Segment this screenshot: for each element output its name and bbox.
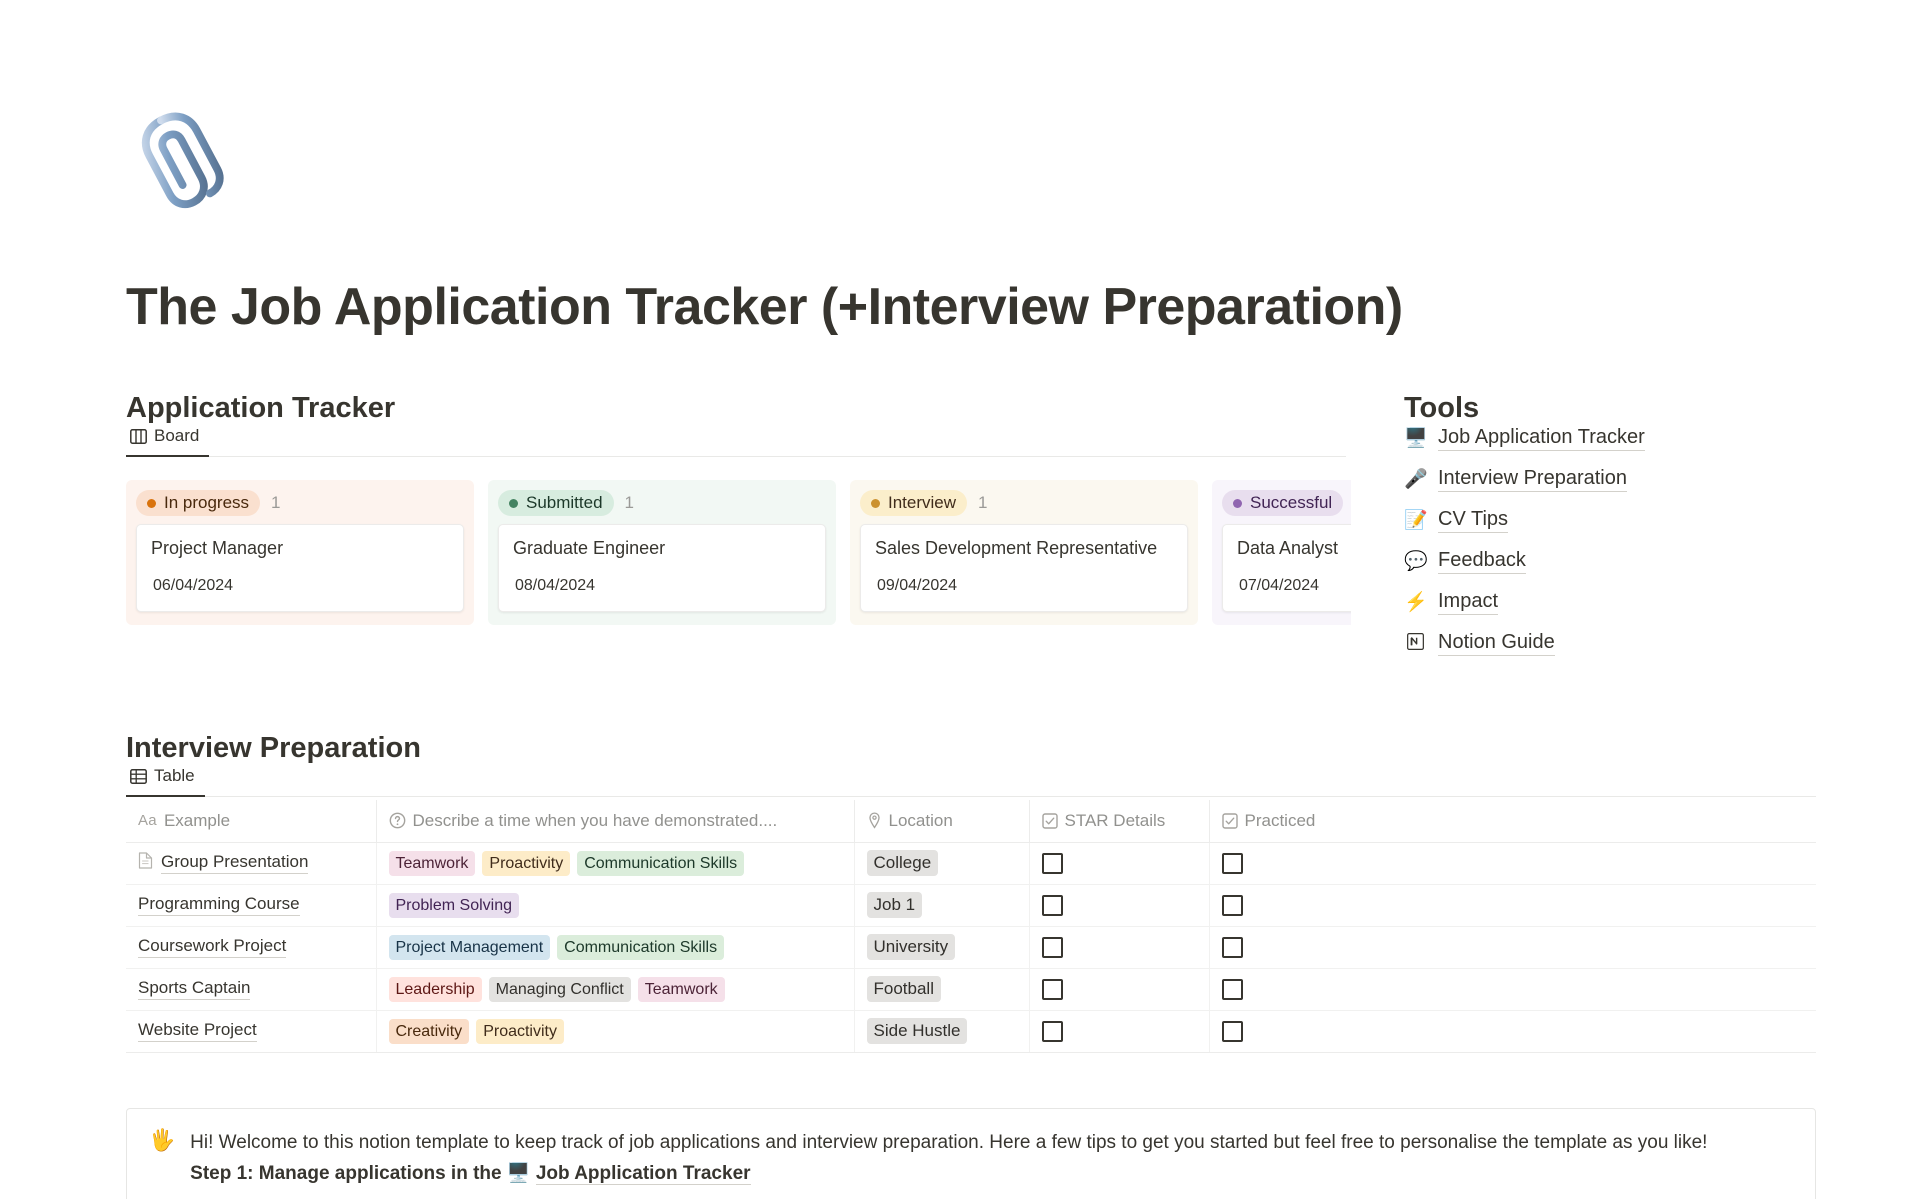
- location-tag: Football: [867, 976, 941, 1002]
- notion-page: The Job Application Tracker (+Interview …: [0, 0, 1920, 1199]
- skill-tag: Project Management: [389, 935, 551, 960]
- cell-example[interactable]: Coursework Project: [126, 926, 376, 968]
- board-column-interview[interactable]: Interview 1 Sales Development Representa…: [850, 480, 1198, 625]
- column-header-label: Location: [889, 811, 953, 831]
- column-header: In progress 1: [136, 490, 464, 516]
- status-dot-icon: [1233, 499, 1242, 508]
- status-label: Interview: [888, 493, 956, 513]
- tab-table[interactable]: Table: [126, 760, 205, 797]
- status-dot-icon: [509, 499, 518, 508]
- callout-step-1: Step 1: Manage applications in the 🖥️ Jo…: [190, 1158, 1707, 1189]
- board-column-in-progress[interactable]: In progress 1 Project Manager 06/04/2024: [126, 480, 474, 625]
- practiced-checkbox[interactable]: [1222, 979, 1243, 1000]
- microphone-icon: 🎤: [1404, 470, 1427, 489]
- tool-item-impact[interactable]: ⚡ Impact: [1404, 582, 1874, 623]
- status-badge-interview[interactable]: Interview: [860, 490, 967, 516]
- cell-example[interactable]: Group Presentation: [126, 842, 376, 884]
- tab-board-label: Board: [154, 426, 199, 446]
- board-card[interactable]: Sales Development Representative 09/04/2…: [860, 524, 1188, 612]
- card-title: Project Manager: [151, 538, 449, 559]
- card-date: 07/04/2024: [1239, 577, 1351, 595]
- location-tag: University: [867, 934, 956, 960]
- cell-skills[interactable]: Project Management Communication Skills: [376, 926, 854, 968]
- raised-hand-icon: 🖐️: [149, 1127, 175, 1199]
- tool-label: CV Tips: [1438, 508, 1508, 533]
- column-header-star-details[interactable]: STAR Details: [1029, 800, 1209, 842]
- column-count: 1: [271, 493, 280, 513]
- cell-star-details[interactable]: [1029, 968, 1209, 1010]
- location-tag: College: [867, 850, 939, 876]
- cell-location[interactable]: University: [854, 926, 1029, 968]
- cell-practiced[interactable]: [1209, 842, 1816, 884]
- column-header: Submitted 1: [498, 490, 826, 516]
- cell-example[interactable]: Programming Course: [126, 884, 376, 926]
- column-header-example[interactable]: Aa Example: [126, 800, 376, 842]
- status-badge-in-progress[interactable]: In progress: [136, 490, 260, 516]
- star-details-checkbox[interactable]: [1042, 1021, 1063, 1042]
- column-count: 1: [625, 493, 634, 513]
- location-tag: Side Hustle: [867, 1018, 968, 1044]
- cell-star-details[interactable]: [1029, 842, 1209, 884]
- cell-location[interactable]: College: [854, 842, 1029, 884]
- skill-tag: Communication Skills: [557, 935, 724, 960]
- tab-board[interactable]: Board: [126, 420, 209, 457]
- card-date: 06/04/2024: [153, 577, 449, 595]
- skill-tag: Problem Solving: [389, 893, 520, 918]
- memo-icon: 📝: [1404, 511, 1427, 530]
- table-row[interactable]: Group Presentation Teamwork Proactivity …: [126, 842, 1816, 884]
- title-aa-icon: Aa: [138, 812, 157, 829]
- practiced-checkbox[interactable]: [1222, 853, 1243, 874]
- cell-location[interactable]: Job 1: [854, 884, 1029, 926]
- card-title: Data Analyst: [1237, 538, 1351, 559]
- column-header-practiced[interactable]: Practiced: [1209, 800, 1816, 842]
- column-header: Successful: [1222, 490, 1351, 516]
- example-name: Sports Captain: [138, 978, 250, 1000]
- card-date: 08/04/2024: [515, 577, 811, 595]
- cell-practiced[interactable]: [1209, 968, 1816, 1010]
- star-details-checkbox[interactable]: [1042, 895, 1063, 916]
- column-header-label: Practiced: [1245, 811, 1316, 831]
- skill-tag: Leadership: [389, 977, 482, 1002]
- star-details-checkbox[interactable]: [1042, 853, 1063, 874]
- speech-balloon-icon: 💬: [1404, 552, 1427, 571]
- interview-preparation-table: Aa Example: [126, 800, 1816, 1053]
- status-badge-submitted[interactable]: Submitted: [498, 490, 614, 516]
- skill-tag: Teamwork: [389, 851, 476, 876]
- location-pin-icon: [867, 812, 882, 829]
- table-header-row: Aa Example: [126, 800, 1816, 842]
- tool-label: Job Application Tracker: [1438, 426, 1645, 451]
- table-view-tabbar: Table: [126, 760, 1816, 797]
- board-card[interactable]: Data Analyst 07/04/2024: [1222, 524, 1351, 612]
- status-label: Submitted: [526, 493, 603, 513]
- table-view-icon: [130, 769, 147, 784]
- location-tag: Job 1: [867, 892, 923, 918]
- tool-item-cv-tips[interactable]: 📝 CV Tips: [1404, 500, 1874, 541]
- table-row[interactable]: Coursework Project Project Management Co…: [126, 926, 1816, 968]
- page-title: The Job Application Tracker (+Interview …: [126, 277, 1403, 337]
- skill-tag: Proactivity: [476, 1019, 564, 1044]
- callout-step-prefix: Step 1: Manage applications in the: [190, 1163, 507, 1184]
- status-dot-icon: [871, 499, 880, 508]
- board-view-icon: [130, 429, 147, 444]
- table-row[interactable]: Website Project Creativity Proactivity S…: [126, 1010, 1816, 1052]
- page-document-icon: [138, 852, 153, 874]
- tool-item-job-application-tracker[interactable]: 🖥️ Job Application Tracker: [1404, 418, 1874, 459]
- tab-table-label: Table: [154, 766, 195, 786]
- notion-logo-icon: [1404, 633, 1427, 654]
- status-label: In progress: [164, 493, 249, 513]
- skill-tag: Managing Conflict: [489, 977, 631, 1002]
- status-dot-icon: [147, 499, 156, 508]
- cell-location[interactable]: Side Hustle: [854, 1010, 1029, 1052]
- cell-star-details[interactable]: [1029, 884, 1209, 926]
- cell-example[interactable]: Website Project: [126, 1010, 376, 1052]
- cell-practiced[interactable]: [1209, 1010, 1816, 1052]
- cell-example[interactable]: Sports Captain: [126, 968, 376, 1010]
- callout-intro-text: Hi! Welcome to this notion template to k…: [190, 1127, 1707, 1158]
- example-name: Programming Course: [138, 894, 300, 916]
- tool-item-interview-preparation[interactable]: 🎤 Interview Preparation: [1404, 459, 1874, 500]
- card-date: 09/04/2024: [877, 577, 1173, 595]
- welcome-callout: 🖐️ Hi! Welcome to this notion template t…: [126, 1108, 1816, 1199]
- board-column-submitted[interactable]: Submitted 1 Graduate Engineer 08/04/2024: [488, 480, 836, 625]
- cell-skills[interactable]: Creativity Proactivity: [376, 1010, 854, 1052]
- cell-star-details[interactable]: [1029, 1010, 1209, 1052]
- example-name: Coursework Project: [138, 936, 286, 958]
- example-name: Website Project: [138, 1020, 257, 1042]
- multi-select-icon: [389, 812, 406, 829]
- cell-star-details[interactable]: [1029, 926, 1209, 968]
- practiced-checkbox[interactable]: [1222, 895, 1243, 916]
- column-header-describe[interactable]: Describe a time when you have demonstrat…: [376, 800, 854, 842]
- status-badge-successful[interactable]: Successful: [1222, 490, 1343, 516]
- status-label: Successful: [1250, 493, 1332, 513]
- board-card[interactable]: Graduate Engineer 08/04/2024: [498, 524, 826, 612]
- column-header-label: STAR Details: [1065, 811, 1166, 831]
- column-header-label: Example: [164, 811, 230, 831]
- skill-tag: Communication Skills: [577, 851, 744, 876]
- board-card[interactable]: Project Manager 06/04/2024: [136, 524, 464, 612]
- column-header-label: Describe a time when you have demonstrat…: [413, 811, 778, 831]
- card-title: Sales Development Representative: [875, 538, 1173, 559]
- tool-item-notion-guide[interactable]: Notion Guide: [1404, 623, 1874, 664]
- tool-label: Feedback: [1438, 549, 1526, 574]
- practiced-checkbox[interactable]: [1222, 937, 1243, 958]
- practiced-checkbox[interactable]: [1222, 1021, 1243, 1042]
- checkbox-property-icon: [1222, 813, 1238, 829]
- tool-label: Impact: [1438, 590, 1498, 615]
- skill-tag: Teamwork: [638, 977, 725, 1002]
- tool-item-feedback[interactable]: 💬 Feedback: [1404, 541, 1874, 582]
- skill-tag: Creativity: [389, 1019, 470, 1044]
- cell-practiced[interactable]: [1209, 926, 1816, 968]
- star-details-checkbox[interactable]: [1042, 979, 1063, 1000]
- desktop-computer-icon: 🖥️: [1404, 429, 1427, 448]
- board-view-tabbar: Board: [126, 420, 1346, 457]
- checkbox-property-icon: [1042, 813, 1058, 829]
- card-title: Graduate Engineer: [513, 538, 811, 559]
- table-row[interactable]: Sports Captain Leadership Managing Confl…: [126, 968, 1816, 1010]
- cell-location[interactable]: Football: [854, 968, 1029, 1010]
- column-header: Interview 1: [860, 490, 1188, 516]
- tools-list: 🖥️ Job Application Tracker 🎤 Interview P…: [1404, 418, 1874, 664]
- paperclip-icon[interactable]: [126, 104, 238, 216]
- kanban-board[interactable]: In progress 1 Project Manager 06/04/2024…: [126, 480, 1351, 625]
- high-voltage-icon: ⚡: [1404, 593, 1427, 612]
- skill-tag: Proactivity: [482, 851, 570, 876]
- board-column-successful[interactable]: Successful Data Analyst 07/04/2024: [1212, 480, 1351, 625]
- cell-skills[interactable]: Problem Solving: [376, 884, 854, 926]
- column-header-location[interactable]: Location: [854, 800, 1029, 842]
- tool-label: Notion Guide: [1438, 631, 1555, 656]
- table-row[interactable]: Programming Course Problem Solving Job 1: [126, 884, 1816, 926]
- cell-skills[interactable]: Teamwork Proactivity Communication Skill…: [376, 842, 854, 884]
- cell-skills[interactable]: Leadership Managing Conflict Teamwork: [376, 968, 854, 1010]
- callout-step-link[interactable]: Job Application Tracker: [536, 1163, 751, 1185]
- tool-label: Interview Preparation: [1438, 467, 1627, 492]
- column-count: 1: [978, 493, 987, 513]
- example-name: Group Presentation: [161, 852, 308, 874]
- desktop-computer-icon: 🖥️: [507, 1163, 531, 1184]
- cell-practiced[interactable]: [1209, 884, 1816, 926]
- star-details-checkbox[interactable]: [1042, 937, 1063, 958]
